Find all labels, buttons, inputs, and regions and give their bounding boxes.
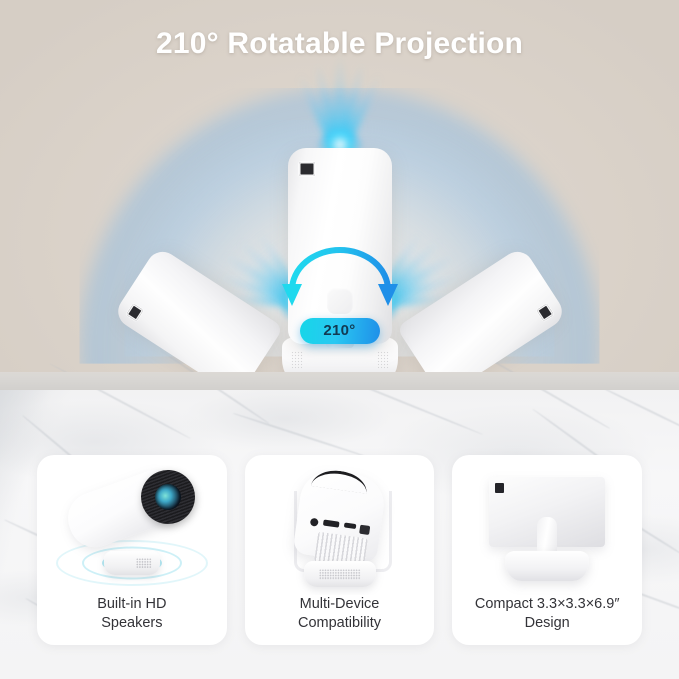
hero-section: 210° 210° Rotatable Projection: [0, 0, 679, 390]
lens-chip-icon: [536, 304, 553, 321]
rotation-arc-arrow: [278, 240, 402, 312]
lens-chip-icon: [299, 162, 315, 176]
card-illustration-dimensions: [452, 455, 642, 595]
feature-card-label: Multi-Device Compatibility: [292, 595, 387, 633]
tabletop-surface: [0, 372, 679, 390]
feature-card-multi-device-compatibility[interactable]: Multi-Device Compatibility: [245, 455, 435, 645]
feature-card-built-in-hd-speakers[interactable]: Built-in HD Speakers: [37, 455, 227, 645]
feature-card-label: Compact 3.3×3.3×6.9″ Design: [469, 595, 626, 633]
rotation-angle-badge: 210°: [300, 318, 380, 344]
feature-card-compact-design[interactable]: Compact 3.3×3.3×6.9″ Design: [452, 455, 642, 645]
card-illustration-speakers: [37, 455, 227, 595]
projector-base: [304, 561, 376, 587]
page-title: 210° Rotatable Projection: [0, 27, 679, 61]
feature-card-label: Built-in HD Speakers: [91, 595, 172, 633]
projector-base: [104, 551, 160, 575]
card-illustration-ports: [245, 455, 435, 595]
feature-card-list: Built-in HD Speakers Multi-Device Compat…: [37, 455, 642, 645]
lens-chip-icon: [495, 483, 504, 493]
product-feature-graphic: 210° 210° Rotatable Projection: [0, 0, 679, 679]
projector-base: [505, 551, 589, 581]
lens-chip-icon: [126, 304, 143, 321]
